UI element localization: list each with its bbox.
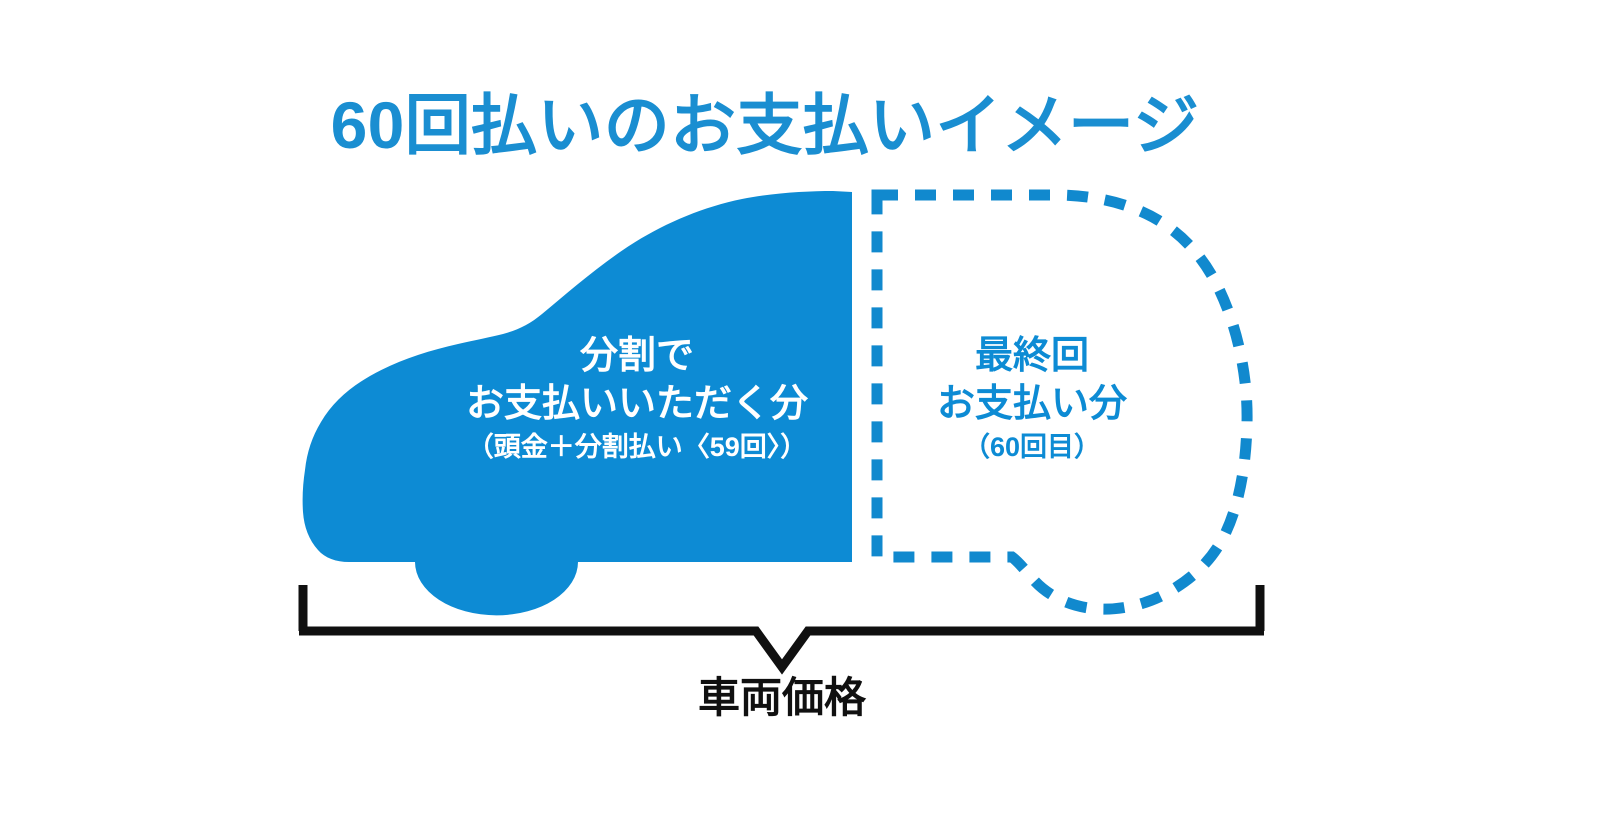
page-title: 60回払いのお支払いイメージ xyxy=(331,88,1200,162)
payment-image-diagram: 60回払いのお支払いイメージ 分割で お支払いいただく分 （頭金＋分割払い〈59… xyxy=(0,0,1600,818)
installment-label-line1: 分割で xyxy=(579,335,694,377)
car-payment-illustration: 60回払いのお支払いイメージ 分割で お支払いいただく分 （頭金＋分割払い〈59… xyxy=(0,0,1600,818)
final-payment-label-line3: （60回目） xyxy=(963,432,1101,462)
final-payment-label-line2: お支払い分 xyxy=(937,383,1128,425)
bracket-rail-with-notch xyxy=(299,631,1264,667)
installment-label-line3: （頭金＋分割払い〈59回〉） xyxy=(467,432,808,462)
final-payment-label-line1: 最終回 xyxy=(975,335,1089,377)
vehicle-price-label: 車両価格 xyxy=(698,674,867,721)
installment-label-line2: お支払いいただく分 xyxy=(466,383,809,425)
final-payment-label-group: 最終回 お支払い分 （60回目） xyxy=(937,335,1128,462)
